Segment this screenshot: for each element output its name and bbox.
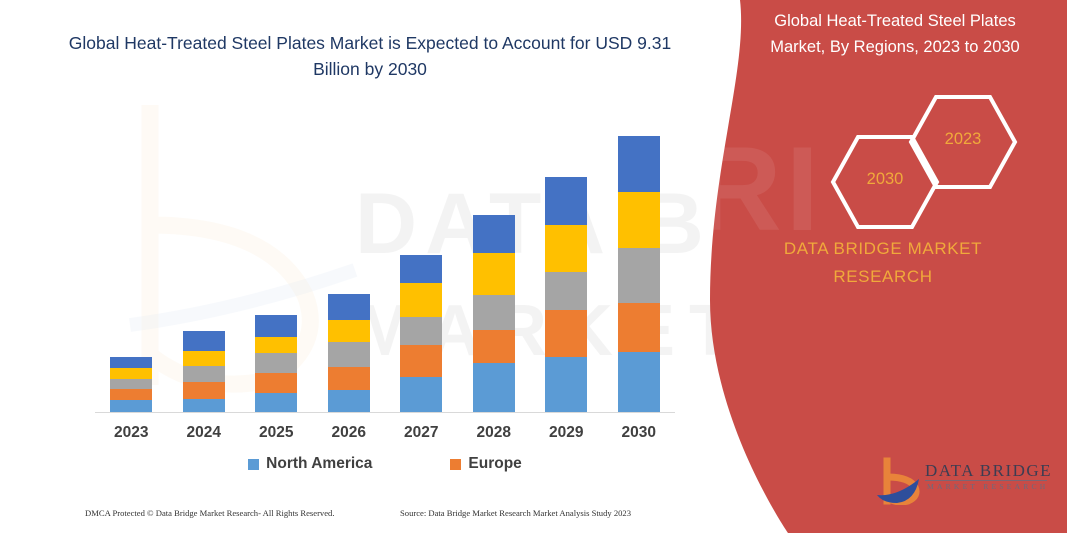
x-axis-line xyxy=(95,412,675,413)
bar-segment xyxy=(473,330,515,363)
footer-dmca-text: DMCA Protected © Data Bridge Market Rese… xyxy=(85,508,335,518)
bar-segment xyxy=(110,379,152,389)
bar-group xyxy=(95,100,168,412)
bar-segment xyxy=(110,400,152,412)
right-panel-title: Global Heat-Treated Steel Plates Market,… xyxy=(745,8,1045,60)
bar-group xyxy=(168,100,241,412)
bar-segment xyxy=(328,342,370,367)
chart-panel: Global Heat-Treated Steel Plates Market … xyxy=(0,0,740,533)
infographic-root: DATA BRIDGE MARKET RESEARCH Global Heat-… xyxy=(0,0,1067,533)
stacked-bar[interactable] xyxy=(400,255,442,412)
x-axis-label: 2025 xyxy=(240,424,313,442)
bar-segment xyxy=(328,294,370,320)
dbmr-logo-subtitle: MARKET RESEARCH xyxy=(927,482,1049,491)
legend-item[interactable]: Europe xyxy=(450,455,521,473)
bar-segment xyxy=(545,177,587,225)
bar-group xyxy=(530,100,603,412)
bar-segment xyxy=(183,366,225,382)
bar-segment xyxy=(545,357,587,412)
dbmr-logo-divider xyxy=(925,480,1047,481)
bar-segment xyxy=(618,136,660,192)
chart-plot-area xyxy=(95,100,675,413)
chart-title: Global Heat-Treated Steel Plates Market … xyxy=(60,30,680,82)
bar-segment xyxy=(328,320,370,342)
bar-segment xyxy=(400,283,442,317)
bar-segment xyxy=(110,389,152,400)
bar-segment xyxy=(545,310,587,357)
stacked-bar[interactable] xyxy=(255,315,297,412)
legend-swatch xyxy=(450,459,461,470)
right-red-panel: RI Global Heat-Treated Steel Plates Mark… xyxy=(700,0,1067,533)
stacked-bar[interactable] xyxy=(545,177,587,412)
hexagon-2023-label: 2023 xyxy=(908,130,1018,149)
bar-segment xyxy=(183,331,225,351)
x-axis-label: 2028 xyxy=(458,424,531,442)
stacked-bar[interactable] xyxy=(618,136,660,412)
footer-source-text: Source: Data Bridge Market Research Mark… xyxy=(400,508,631,518)
x-axis-label: 2030 xyxy=(603,424,676,442)
bar-segment xyxy=(545,272,587,310)
bar-segment xyxy=(400,345,442,377)
bar-segment xyxy=(473,363,515,412)
bar-segment xyxy=(255,337,297,353)
bar-group xyxy=(603,100,676,412)
legend-item[interactable]: North America xyxy=(248,455,372,473)
hexagon-group: 2030 2023 xyxy=(700,100,1067,230)
bar-segment xyxy=(400,377,442,412)
right-panel-brand: DATA BRIDGE MARKET RESEARCH xyxy=(733,235,1033,291)
bar-segment xyxy=(328,390,370,412)
stacked-bar[interactable] xyxy=(328,294,370,412)
bar-segment xyxy=(255,373,297,393)
bar-segment xyxy=(183,382,225,399)
x-axis-label: 2026 xyxy=(313,424,386,442)
bar-segment xyxy=(618,248,660,303)
bar-segment xyxy=(400,255,442,283)
bar-segment xyxy=(618,303,660,352)
bar-segment xyxy=(473,295,515,330)
bar-segment xyxy=(473,215,515,253)
bar-group xyxy=(313,100,386,412)
legend-swatch xyxy=(248,459,259,470)
stacked-bar[interactable] xyxy=(183,331,225,412)
bar-segment xyxy=(618,352,660,412)
legend-label: Europe xyxy=(468,455,521,473)
x-axis-label: 2027 xyxy=(385,424,458,442)
bar-group xyxy=(458,100,531,412)
bar-group xyxy=(240,100,313,412)
bar-segment xyxy=(255,393,297,412)
dbmr-logo-mark xyxy=(875,457,923,505)
stacked-bar[interactable] xyxy=(110,357,152,412)
bar-segment xyxy=(328,367,370,390)
bar-segment xyxy=(545,225,587,272)
bar-segment xyxy=(110,357,152,368)
x-axis-label: 2023 xyxy=(95,424,168,442)
bar-segment xyxy=(473,253,515,295)
bar-segment xyxy=(255,353,297,373)
x-axis-label: 2029 xyxy=(530,424,603,442)
legend-label: North America xyxy=(266,455,372,473)
bar-segment xyxy=(618,192,660,248)
x-axis-labels: 20232024202520262027202820292030 xyxy=(95,424,675,442)
bar-segment xyxy=(183,351,225,366)
chart-legend: North AmericaEurope xyxy=(95,455,675,473)
x-axis-label: 2024 xyxy=(168,424,241,442)
bar-segment xyxy=(183,399,225,412)
bar-group xyxy=(385,100,458,412)
bar-segment xyxy=(400,317,442,345)
bar-segment xyxy=(255,315,297,337)
bar-segment xyxy=(110,368,152,379)
dbmr-logo: DATA BRIDGE MARKET RESEARCH xyxy=(875,455,1055,505)
stacked-bars xyxy=(95,100,675,412)
dbmr-logo-name: DATA BRIDGE xyxy=(925,461,1052,481)
stacked-bar[interactable] xyxy=(473,215,515,412)
